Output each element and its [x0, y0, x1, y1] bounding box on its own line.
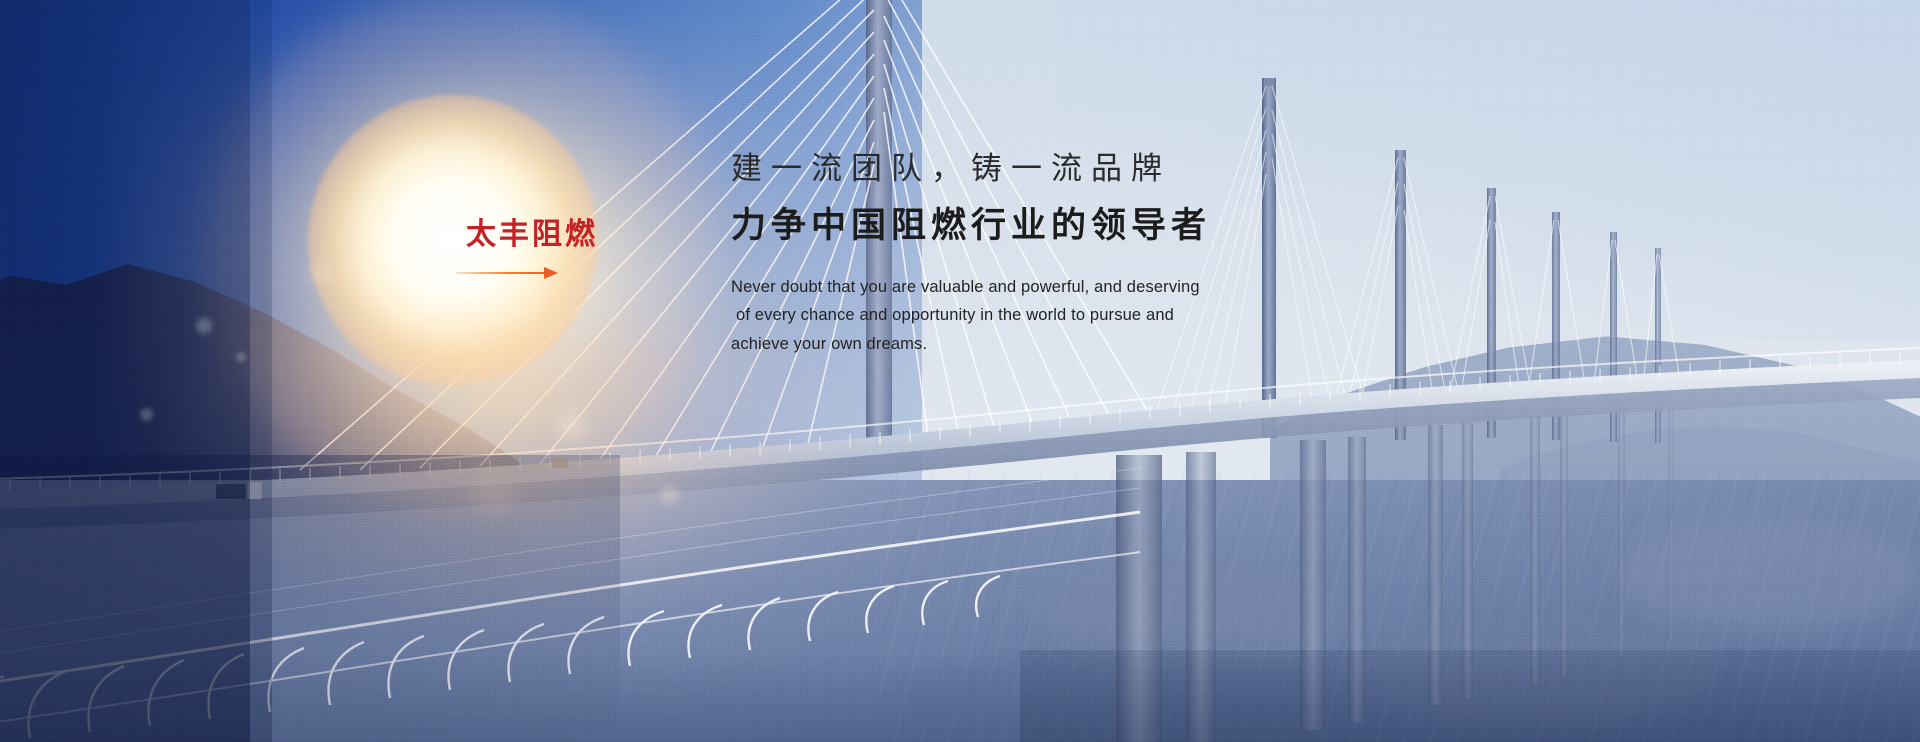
subcopy-line-1: Never doubt that you are valuable and po…	[731, 273, 1431, 301]
subcopy-paragraph: Never doubt that you are valuable and po…	[731, 273, 1431, 358]
subcopy-line-3: achieve your own dreams.	[731, 330, 1431, 358]
brand-logo[interactable]: 太丰阻燃	[466, 218, 626, 279]
headline-secondary: 力争中国阻燃行业的领导者	[731, 205, 1431, 247]
banner-copy: 建一流团队，铸一流品牌 力争中国阻燃行业的领导者 Never doubt tha…	[731, 150, 1431, 358]
headline-primary: 建一流团队，铸一流品牌	[731, 150, 1431, 189]
banner-content: 太丰阻燃 建一流团队，铸一流品牌 力争中国阻燃行业的领导者 Never doub…	[0, 0, 1920, 742]
arrow-shaft	[456, 272, 552, 274]
brand-logo-text: 太丰阻燃	[466, 218, 626, 251]
arrow-head	[544, 267, 558, 279]
hero-banner: 太丰阻燃 建一流团队，铸一流品牌 力争中国阻燃行业的领导者 Never doub…	[0, 0, 1920, 742]
arrow-right-icon	[456, 267, 568, 279]
subcopy-line-2: of every chance and opportunity in the w…	[731, 301, 1431, 329]
